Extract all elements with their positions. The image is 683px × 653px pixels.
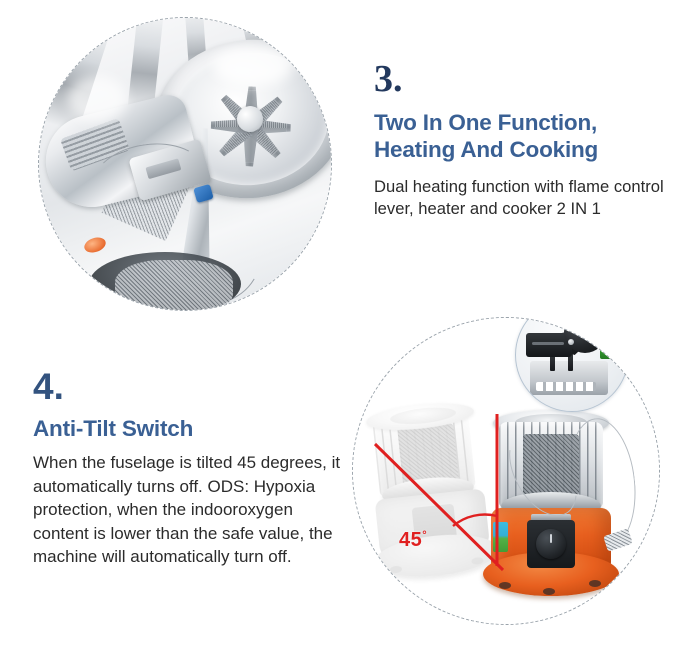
feature-4-body: When the fuselage is tilted 45 degrees, …	[33, 451, 353, 568]
mesh-texture	[115, 260, 233, 311]
heater-foot	[589, 580, 601, 587]
cooking-plate-photo	[38, 17, 332, 311]
tilt-scene: 45°	[353, 318, 659, 624]
feature-3-title-line2: Heating And Cooking	[374, 136, 674, 163]
plate-scene	[38, 17, 332, 311]
highlight	[67, 76, 127, 122]
product-sticker	[493, 522, 508, 552]
infographic-canvas: 3. Two In One Function, Heating And Cook…	[0, 0, 683, 653]
heater-unit	[485, 396, 617, 592]
angle-value: 45	[399, 529, 422, 551]
switch-screw	[598, 333, 604, 339]
heater-foot	[499, 582, 511, 589]
feature-4-block: 4. Anti-Tilt Switch When the fuselage is…	[33, 368, 353, 569]
feature-3-title: Two In One Function, Heating And Cooking	[374, 109, 674, 164]
switch-screw	[568, 339, 574, 345]
feature-3-title-line1: Two In One Function,	[374, 109, 674, 136]
heater-foot	[543, 588, 555, 595]
degree-symbol: °	[422, 529, 427, 541]
feature-3-body: Dual heating function with flame control…	[374, 176, 674, 220]
feature-3-block: 3. Two In One Function, Heating And Cook…	[374, 60, 674, 220]
highlight	[213, 46, 293, 86]
angle-label: 45°	[399, 529, 427, 552]
switch-green-tab	[600, 343, 612, 359]
feature-3-number: 3.	[374, 60, 674, 98]
ghost-tilted-heater	[362, 388, 498, 575]
orange-accent	[82, 235, 107, 255]
anti-tilt-diagram: 45°	[352, 317, 660, 625]
control-knob[interactable]	[536, 529, 566, 559]
feature-4-number: 4.	[33, 368, 353, 405]
feature-4-title: Anti-Tilt Switch	[33, 415, 353, 442]
